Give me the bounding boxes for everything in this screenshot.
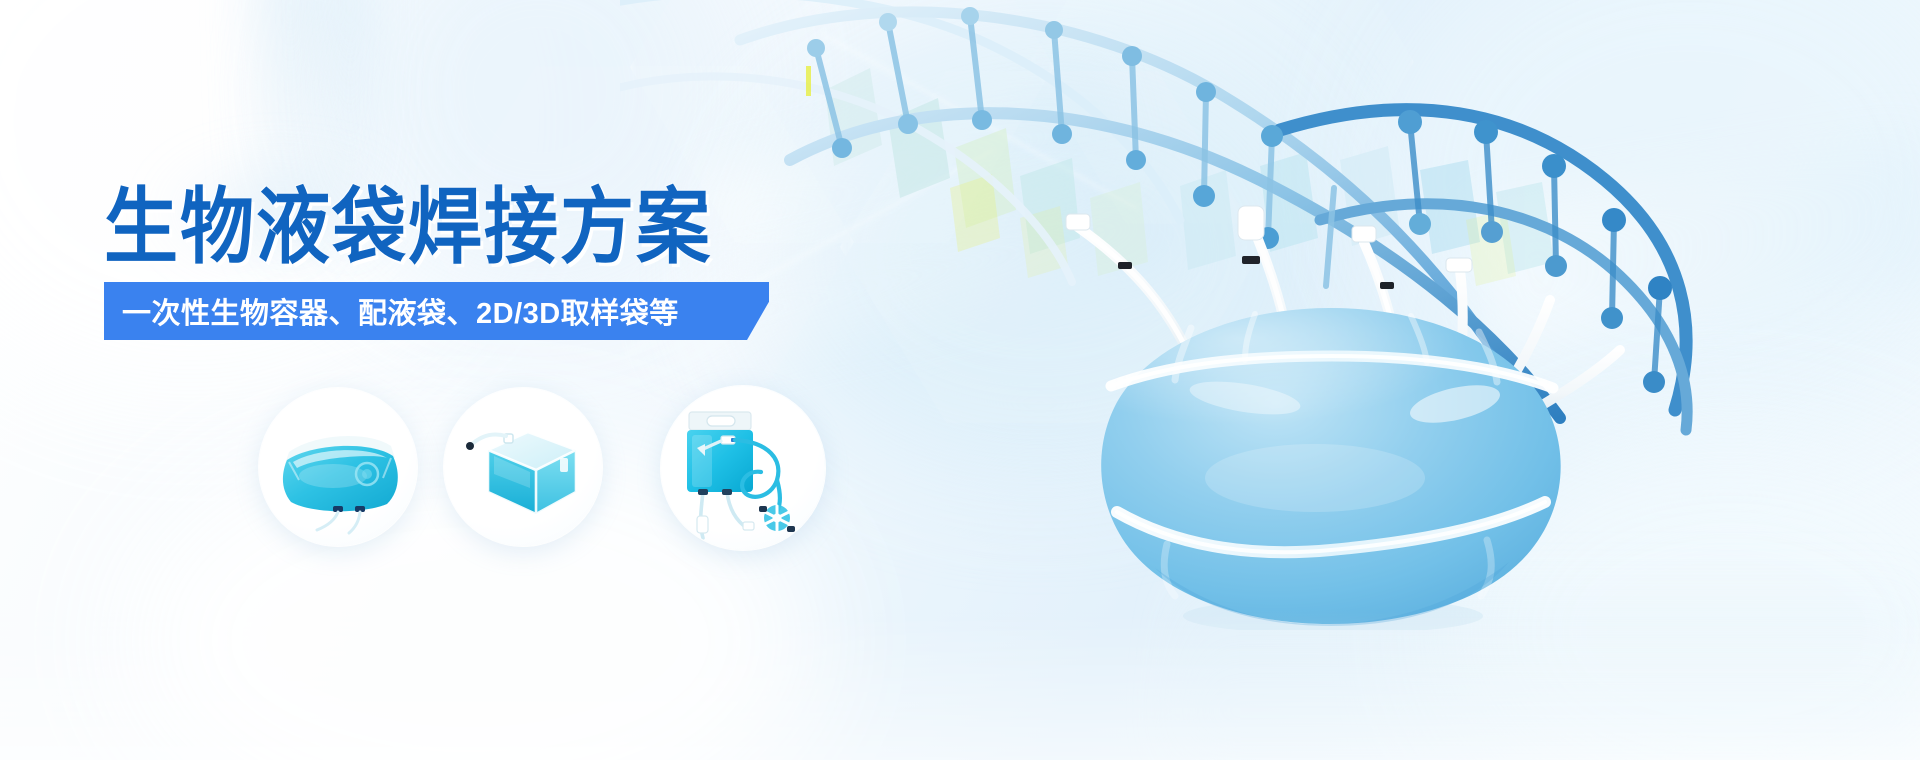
sampling-bag-icon [661, 386, 825, 550]
product-circle-sampling-bag[interactable] [661, 386, 825, 550]
bottom-fade [0, 610, 1920, 760]
product-circle-pillow-bag[interactable] [259, 388, 417, 546]
subtitle-text: 一次性生物容器、配液袋、2D/3D取样袋等 [122, 290, 679, 332]
subtitle-bar: 一次性生物容器、配液袋、2D/3D取样袋等 [104, 282, 769, 340]
pillow-bag-icon [259, 388, 417, 546]
product-circle-cube-bag[interactable] [444, 388, 602, 546]
promo-banner: 生物液袋焊接方案 一次性生物容器、配液袋、2D/3D取样袋等 [0, 0, 1920, 760]
page-title: 生物液袋焊接方案 [104, 186, 712, 269]
cube-bag-icon [444, 388, 602, 546]
bioprocess-bag-hero [1095, 300, 1565, 630]
